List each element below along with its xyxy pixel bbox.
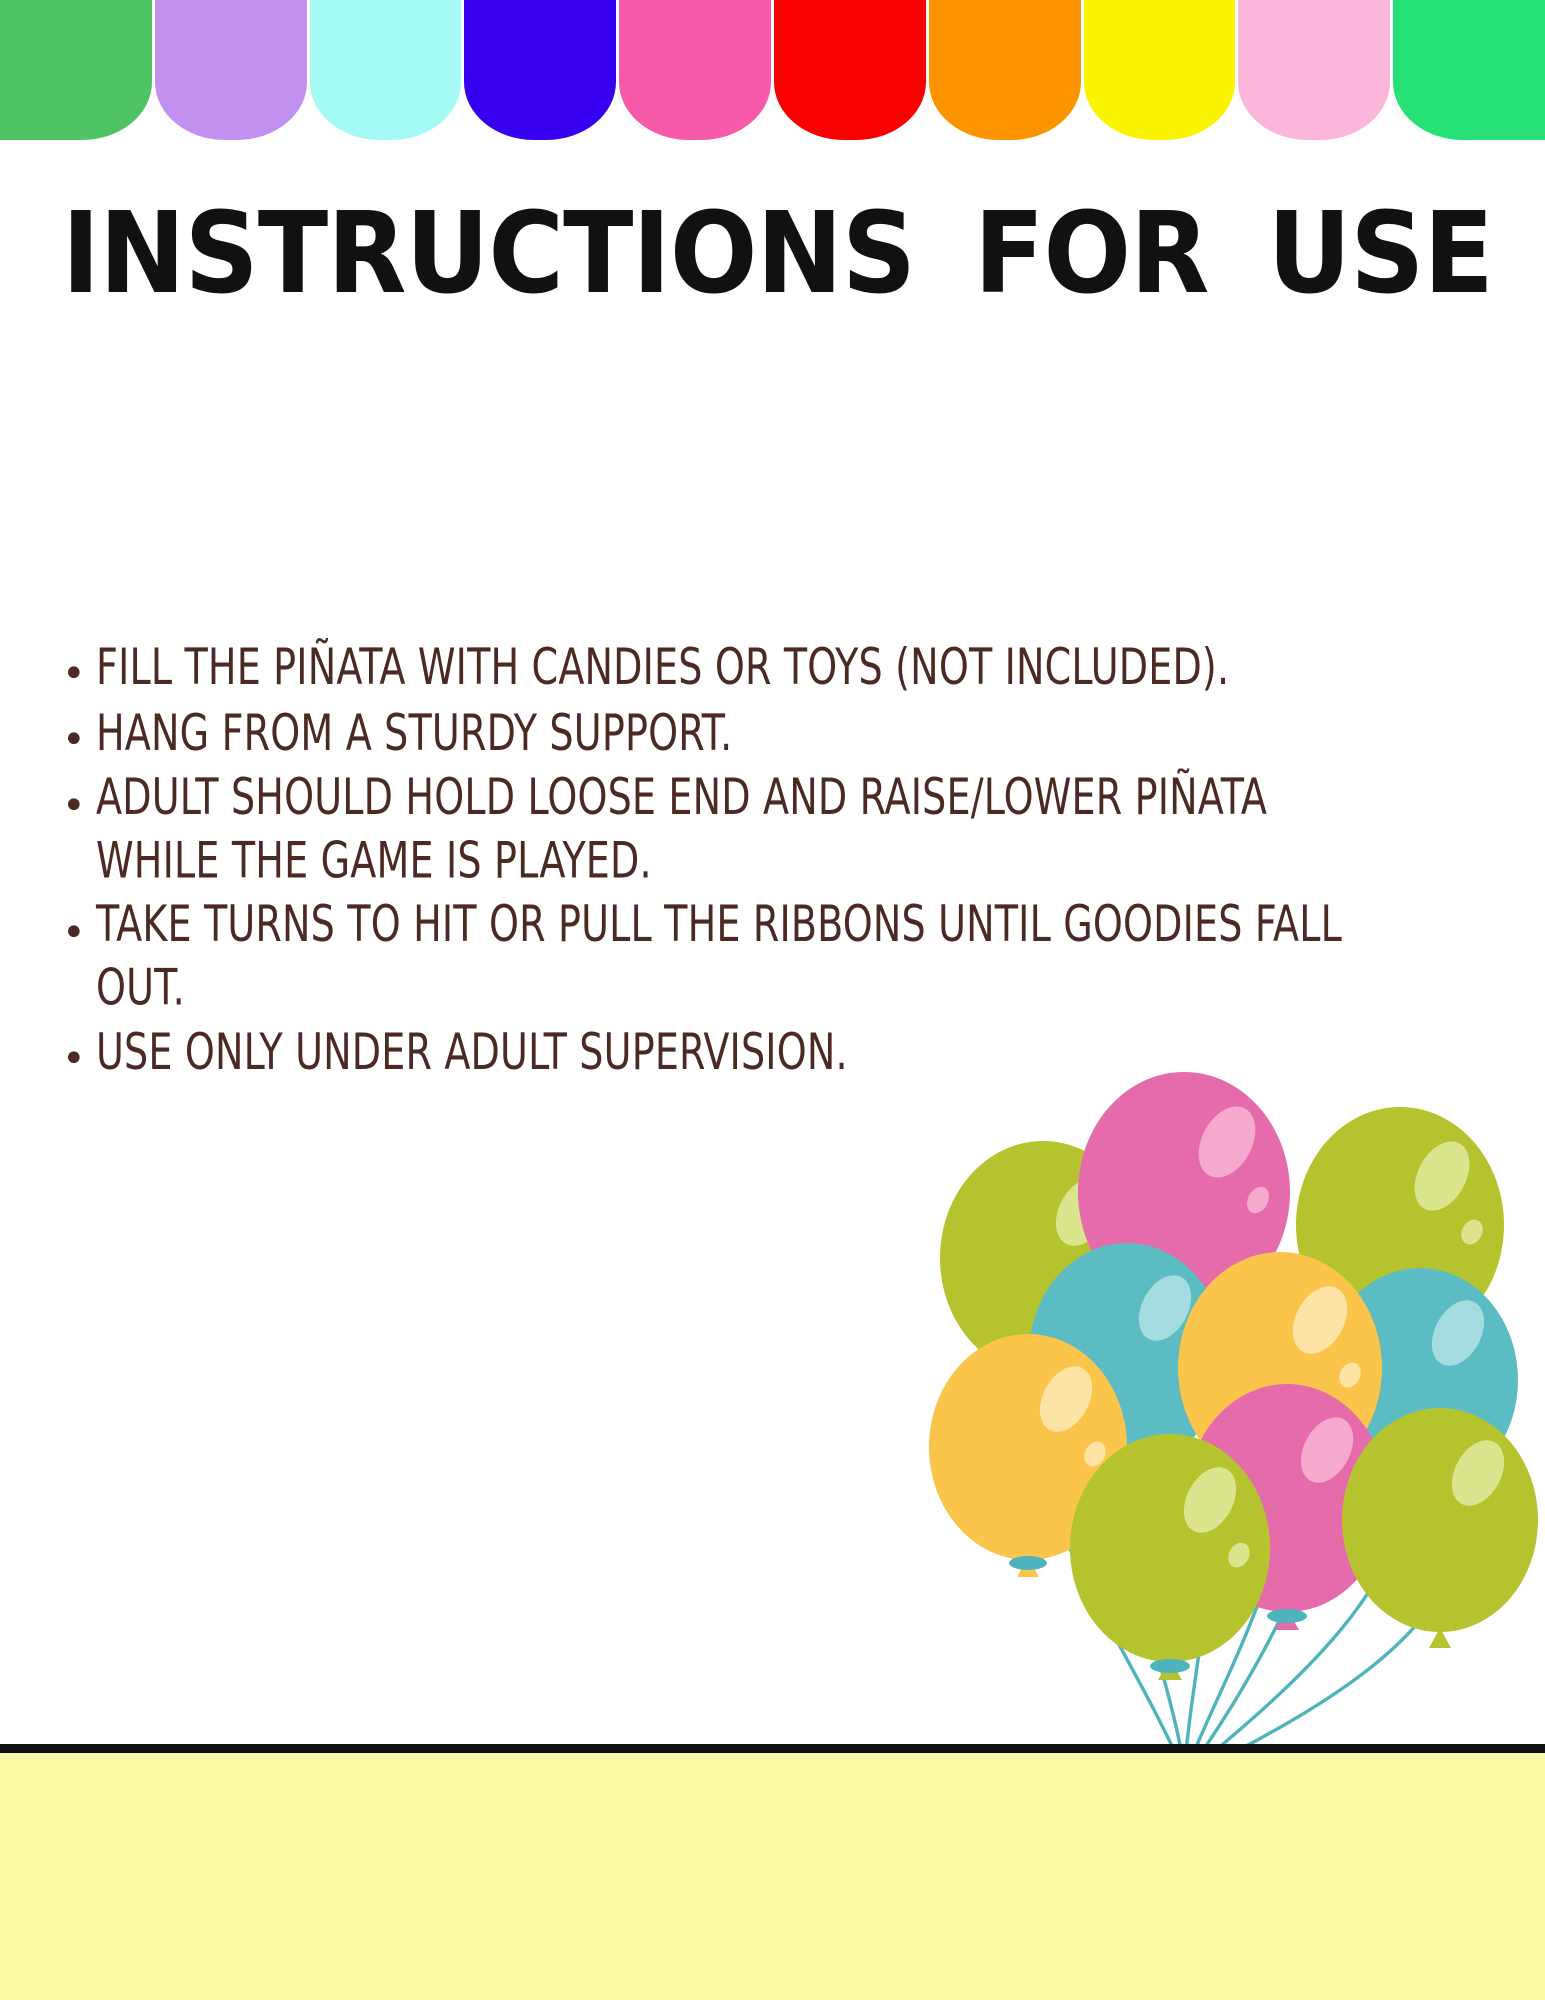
bottom-yellow-band bbox=[0, 1753, 1545, 2000]
bullet-icon: • bbox=[62, 1023, 96, 1079]
balloon-teal-left bbox=[1029, 1243, 1225, 1484]
title-word-3: USE bbox=[1267, 198, 1493, 310]
balloon-olive-lower-right bbox=[1342, 1408, 1538, 1648]
bunting-flag-red bbox=[774, 0, 926, 140]
bullet-icon: • bbox=[62, 704, 96, 760]
list-item: • FILL THE PIÑATA WITH CANDIES OR TOYS (… bbox=[62, 638, 1482, 698]
scalloped-bunting-banner bbox=[0, 0, 1545, 140]
bottom-divider-rule bbox=[0, 1744, 1545, 1753]
list-item-text: TAKE TURNS TO HIT OR PULL THE RIBBONS UN… bbox=[96, 893, 1343, 1021]
list-item: • ADULT SHOULD HOLD LOOSE END AND RAISE/… bbox=[62, 770, 1482, 890]
title-word-1: INSTRUCTIONS bbox=[62, 198, 915, 310]
bullet-icon: • bbox=[62, 770, 96, 826]
list-item-text: ADULT SHOULD HOLD LOOSE END AND RAISE/LO… bbox=[96, 767, 1343, 895]
balloon-olive-front bbox=[1070, 1434, 1270, 1680]
instructions-list: • FILL THE PIÑATA WITH CANDIES OR TOYS (… bbox=[62, 638, 1482, 1089]
list-item-text: FILL THE PIÑATA WITH CANDIES OR TOYS (NO… bbox=[96, 636, 1343, 700]
list-item: • USE ONLY UNDER ADULT SUPERVISION. bbox=[62, 1023, 1482, 1083]
title-word-2: FOR bbox=[974, 198, 1209, 310]
list-item-text: USE ONLY UNDER ADULT SUPERVISION. bbox=[96, 1021, 1343, 1085]
bullet-icon: • bbox=[62, 897, 96, 953]
balloon-knot-collars bbox=[1009, 1556, 1307, 1673]
bunting-flag-aqua bbox=[310, 0, 462, 140]
bullet-icon: • bbox=[62, 638, 96, 694]
bunting-flag-yellow bbox=[1084, 0, 1236, 140]
bunting-flag-light-pink bbox=[1238, 0, 1390, 140]
balloon-olive-back-left bbox=[940, 1141, 1146, 1392]
balloon-yellow-left bbox=[929, 1334, 1127, 1577]
bunting-flag-orange bbox=[929, 0, 1081, 140]
bunting-flag-pink bbox=[619, 0, 771, 140]
list-item: • HANG FROM A STURDY SUPPORT. bbox=[62, 704, 1482, 764]
list-item-text: HANG FROM A STURDY SUPPORT. bbox=[96, 702, 1343, 766]
bunting-flag-mint-green bbox=[1393, 0, 1545, 140]
instruction-sheet-page: INSTRUCTIONS FOR USE • FILL THE PIÑATA W… bbox=[0, 0, 1545, 2000]
page-title: INSTRUCTIONS FOR USE bbox=[62, 198, 1483, 310]
bunting-flag-lavender bbox=[155, 0, 307, 140]
balloon-pink-top bbox=[1078, 1072, 1290, 1330]
list-item: • TAKE TURNS TO HIT OR PULL THE RIBBONS … bbox=[62, 897, 1482, 1017]
balloon-yellow-center bbox=[1178, 1252, 1382, 1502]
balloons-group bbox=[929, 1072, 1538, 1680]
balloon-pink-lower bbox=[1187, 1384, 1387, 1630]
balloon-teal-right bbox=[1322, 1268, 1518, 1509]
bunting-flag-blue bbox=[464, 0, 616, 140]
balloon-olive-right bbox=[1296, 1107, 1504, 1361]
bunting-flag-green bbox=[0, 0, 152, 140]
